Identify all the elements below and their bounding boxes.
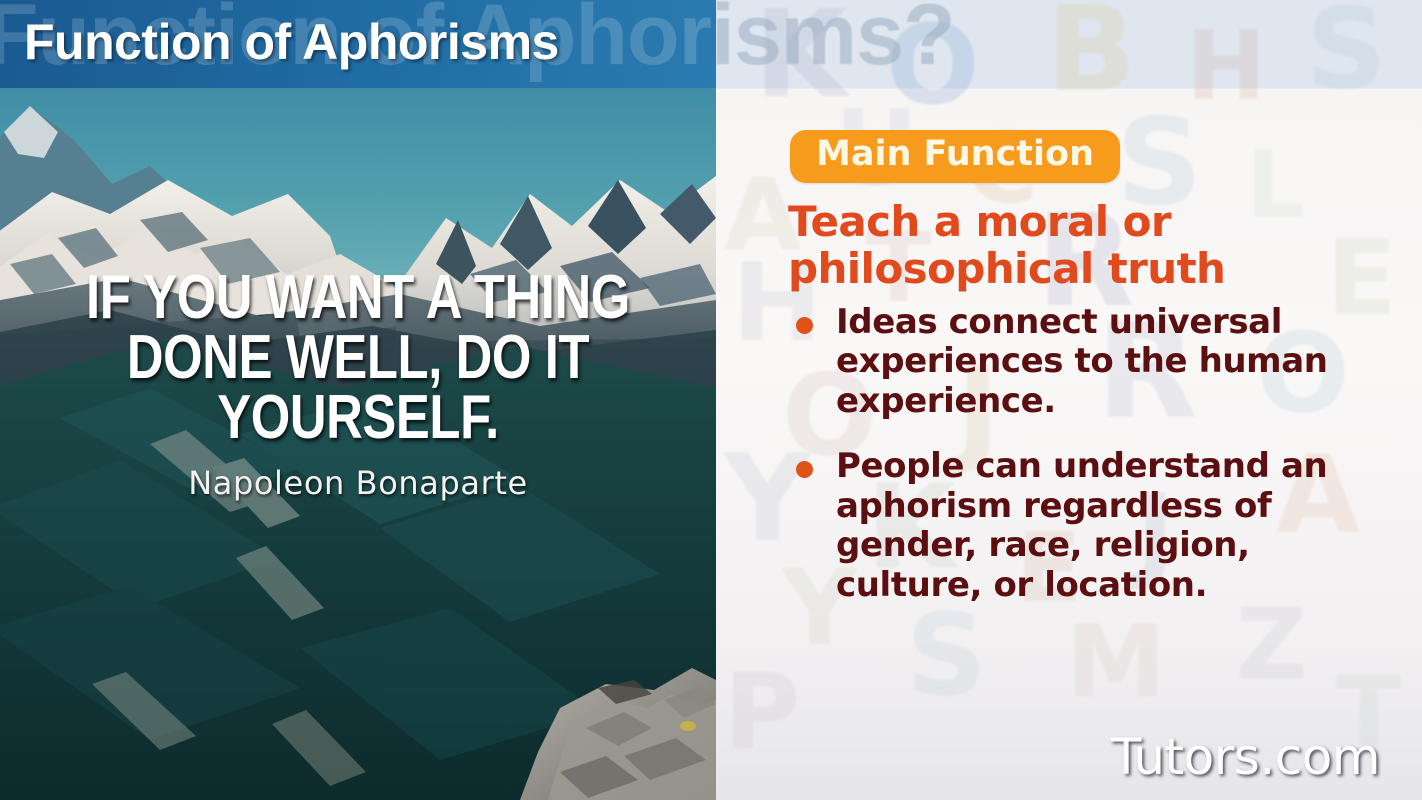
panel-heading-line: Teach a moral or	[788, 198, 1408, 245]
content-panel: Main Function Teach a moral or philosoph…	[716, 88, 1422, 800]
panel-heading: Teach a moral or philosophical truth	[788, 198, 1408, 292]
list-item: People can understand an aphorism regard…	[788, 447, 1400, 605]
slide-canvas: KOBHSUCSLARTHEROJOYAKJEYSMZPT Function o…	[0, 0, 1422, 800]
bullet-list: Ideas connect universal experiences to t…	[788, 303, 1400, 631]
status-badge: Main Function	[790, 130, 1120, 183]
list-item-label: People can understand an aphorism regard…	[836, 446, 1327, 604]
page-title: Function of Aphorisms	[24, 13, 559, 71]
quote-image-card: IF YOU WANT A THING DONE WELL, DO IT YOU…	[0, 88, 716, 800]
list-item-label: Ideas connect universal experiences to t…	[836, 302, 1328, 421]
panel-heading-line: philosophical truth	[788, 245, 1408, 292]
mountain-photograph	[0, 88, 716, 800]
bullet-dot-icon	[796, 461, 813, 478]
bullet-dot-icon	[796, 317, 813, 334]
list-item: Ideas connect universal experiences to t…	[788, 303, 1400, 421]
brand-logo[interactable]: Tutors.com	[1111, 728, 1380, 786]
title-banner: Function of Aphorisms? Function of Aphor…	[0, 0, 716, 88]
